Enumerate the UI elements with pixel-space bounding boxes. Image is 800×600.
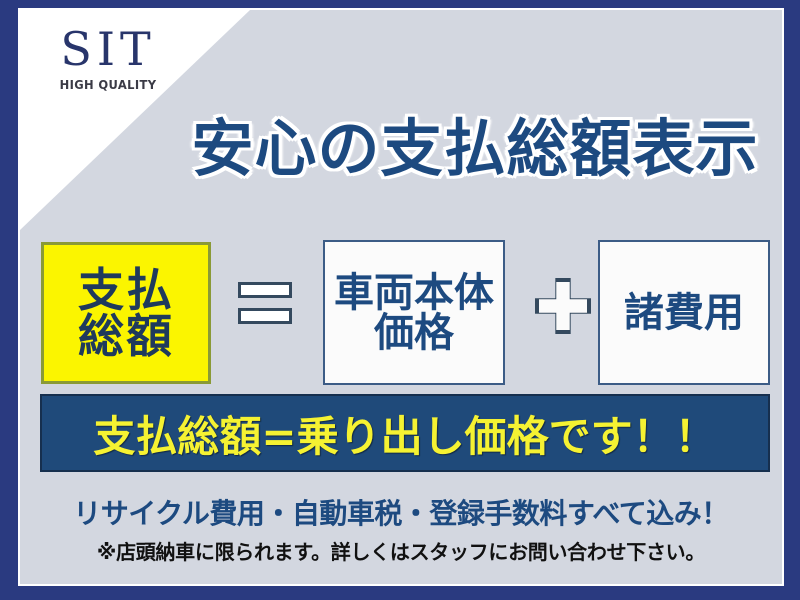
equals-bar-bottom xyxy=(238,308,292,324)
emphasis-banner: 支払総額=乗り出し価格です！！ xyxy=(40,394,770,472)
disclaimer-note: ※店頭納車に限られます。詳しくはスタッフにお問い合わせ下さい。 xyxy=(20,536,782,565)
banner-inner-field: SIT HIGH QUALITY 安心の支払総額表示 支払 総額 車両本体 価格 xyxy=(18,8,784,586)
misc-fees-box: 諸費用 xyxy=(598,240,770,385)
inclusions-note: リサイクル費用・自動車税・登録手数料すべて込み！ xyxy=(20,492,782,532)
misc-fees-label: 諸費用 xyxy=(624,293,744,333)
price-formula-row: 支払 総額 車両本体 価格 諸費用 xyxy=(20,238,782,388)
page-title: 安心の支払総額表示 xyxy=(150,118,784,180)
logo-wordmark: SIT xyxy=(38,26,178,72)
plus-sign-fill xyxy=(539,282,587,330)
equals-sign-icon xyxy=(238,282,292,326)
total-payment-box: 支払 総額 xyxy=(41,242,211,384)
equals-bar-top xyxy=(238,282,292,298)
promo-banner-root: SIT HIGH QUALITY 安心の支払総額表示 支払 総額 車両本体 価格 xyxy=(0,0,800,600)
vehicle-body-price-line-2: 価格 xyxy=(374,313,454,353)
vehicle-body-price-line-1: 車両本体 xyxy=(334,273,494,313)
total-payment-line-2: 総額 xyxy=(78,313,174,359)
vehicle-body-price-box: 車両本体 価格 xyxy=(323,240,505,385)
logo-tagline: HIGH QUALITY xyxy=(44,77,173,92)
total-payment-line-1: 支払 xyxy=(78,267,174,313)
brand-logo: SIT HIGH QUALITY xyxy=(38,26,178,92)
plus-sign-icon xyxy=(535,278,591,334)
